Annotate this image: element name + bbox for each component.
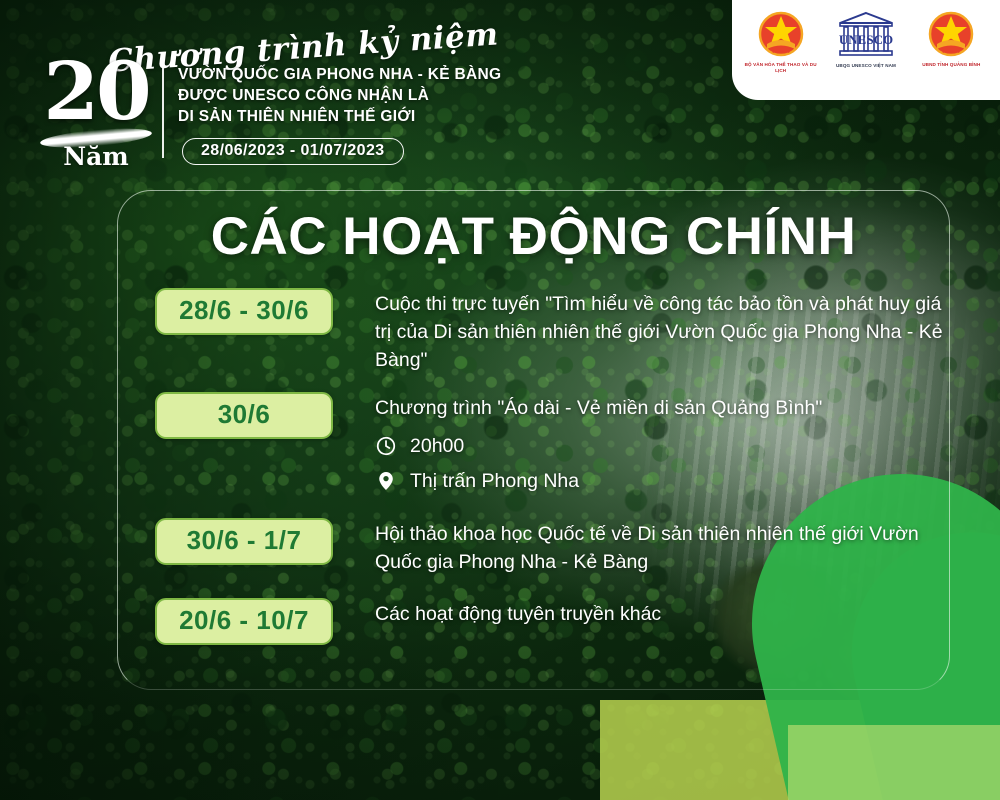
logo-caption-ubnd: UBND TỈNH QUẢNG BÌNH [909, 62, 993, 68]
logo-caption-unesco: UBQG UNESCO VIỆT NAM [824, 63, 908, 69]
activity-row-3: 30/6 - 1/7 Hội thảo khoa học Quốc tế về … [155, 518, 945, 576]
location-pin-icon [375, 470, 397, 492]
anniversary-unit-label: Năm [34, 142, 158, 171]
header-divider [162, 62, 164, 158]
activity-date-badge-2: 30/6 [155, 392, 333, 439]
activities-list: 28/6 - 30/6 Cuộc thi trực tuyến "Tìm hiể… [155, 288, 945, 661]
activity-description-4: Các hoạt động tuyên truyền khác [375, 600, 945, 628]
unesco-wordmark: UNESCO [839, 32, 893, 47]
activity-place-2: Thị trấn Phong Nha [375, 470, 945, 492]
header-subtitle-line-3: DI SẢN THIÊN NHIÊN THẾ GIỚI [178, 106, 508, 127]
header-subtitle-line-2: ĐƯỢC UNESCO CÔNG NHẬN LÀ [178, 85, 508, 106]
logo-ubnd-tinh-quang-binh: UBND TỈNH QUẢNG BÌNH [909, 8, 993, 68]
activity-date-badge-1: 28/6 - 30/6 [155, 288, 333, 335]
activity-date-badge-4: 20/6 - 10/7 [155, 598, 333, 645]
anniversary-header: Chương trình kỷ niệm 20 Năm VƯỜN QUỐC GI… [30, 14, 500, 164]
activity-body-4: Các hoạt động tuyên truyền khác [333, 598, 945, 628]
activity-time-text-2: 20h00 [410, 435, 464, 457]
decorative-lime-band-overlay [788, 725, 1000, 800]
anniversary-number: 20 [34, 54, 158, 128]
logo-caption-bo-van-hoa: BỘ VĂN HÓA THỂ THAO VÀ DU LỊCH [739, 62, 823, 75]
partner-logos-card: BỘ VĂN HÓA THỂ THAO VÀ DU LỊCH UNESCO UB… [732, 0, 1000, 100]
activity-description-3: Hội thảo khoa học Quốc tế về Di sản thiê… [375, 520, 945, 576]
logo-ubqg-unesco-viet-nam: UNESCO UBQG UNESCO VIỆT NAM [824, 8, 908, 69]
activity-time-2: 20h00 [375, 435, 945, 457]
unesco-temple-icon: UNESCO [834, 10, 898, 60]
activity-body-3: Hội thảo khoa học Quốc tế về Di sản thiê… [333, 518, 945, 576]
vietnam-national-emblem-icon-2 [925, 8, 977, 60]
activity-date-badge-3: 30/6 - 1/7 [155, 518, 333, 565]
activity-row-4: 20/6 - 10/7 Các hoạt động tuyên truyền k… [155, 598, 945, 645]
logo-bo-van-hoa-the-thao-du-lich: BỘ VĂN HÓA THỂ THAO VÀ DU LỊCH [739, 8, 823, 75]
anniversary-logo: 20 Năm [34, 54, 158, 162]
poster-root: Chương trình kỷ niệm 20 Năm VƯỜN QUỐC GI… [0, 0, 1000, 800]
header-date-range-pill: 28/06/2023 - 01/07/2023 [182, 138, 404, 165]
activity-description-1: Cuộc thi trực tuyến "Tìm hiểu về công tá… [375, 290, 945, 374]
page-title: CÁC HOẠT ĐỘNG CHÍNH [117, 206, 950, 267]
activity-row-2: 30/6 Chương trình "Áo dài - Vẻ miền di s… [155, 392, 945, 492]
header-subtitle-line-1: VƯỜN QUỐC GIA PHONG NHA - KẺ BÀNG [178, 64, 508, 85]
activity-body-1: Cuộc thi trực tuyến "Tìm hiểu về công tá… [333, 288, 945, 374]
activity-description-2: Chương trình "Áo dài - Vẻ miền di sản Qu… [375, 394, 945, 422]
vietnam-national-emblem-icon [755, 8, 807, 60]
clock-icon [375, 435, 397, 457]
activity-body-2: Chương trình "Áo dài - Vẻ miền di sản Qu… [333, 392, 945, 492]
activity-row-1: 28/6 - 30/6 Cuộc thi trực tuyến "Tìm hiể… [155, 288, 945, 374]
header-subtitle-block: VƯỜN QUỐC GIA PHONG NHA - KẺ BÀNG ĐƯỢC U… [178, 64, 508, 127]
activity-place-text-2: Thị trấn Phong Nha [410, 470, 579, 492]
